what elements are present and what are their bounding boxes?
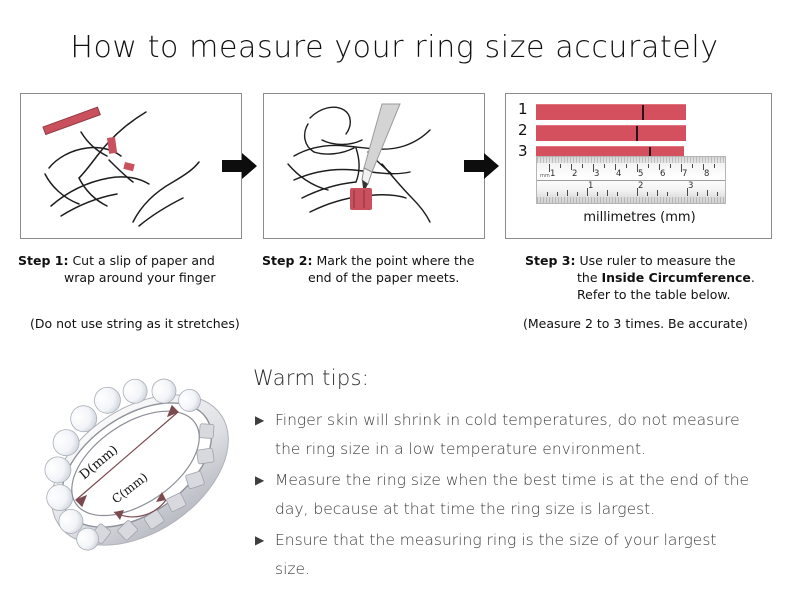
ruler-inch-tick-label: 2	[638, 182, 643, 191]
warm-tips-heading: Warm tips:	[253, 366, 753, 390]
step2-line2: end of the paper meets.	[262, 269, 494, 286]
step1-note: (Do not use string as it stretches)	[30, 316, 240, 331]
warm-tip-item: ▶ Finger skin will shrink in cold temper…	[253, 406, 753, 464]
ruler-inch-tick-label: 3	[688, 182, 693, 191]
ruler-cm-tick-label: 1	[550, 170, 555, 179]
step3-ruler-panel: 1 2 3 mm	[505, 93, 772, 239]
triangle-bullet-icon: ▶	[255, 526, 264, 555]
step1-caption: Step 1: Cut a slip of paper and wrap aro…	[18, 252, 248, 286]
steps-panel-row: 1 2 3 mm	[20, 93, 772, 243]
ruler-center-line	[537, 180, 725, 181]
step1-label: Step 1:	[18, 253, 68, 268]
paper-strip	[536, 125, 686, 141]
triangle-bullet-icon: ▶	[255, 466, 264, 495]
arrow-step1-to-step2-icon	[222, 151, 258, 181]
triangle-bullet-icon: ▶	[255, 406, 264, 435]
step3-line2-suffix: .	[751, 270, 755, 285]
step3-label: Step 3:	[525, 253, 575, 268]
step3-line2-prefix: the	[577, 270, 602, 285]
strip-number: 1	[518, 101, 528, 117]
ruler-cm-tick-label: 5	[638, 170, 643, 179]
ring-photo-illustration: D(mm) C(mm)	[28, 352, 253, 587]
ruler-unit-mark: mm	[540, 173, 550, 179]
strip-number: 2	[518, 122, 528, 138]
paper-strip	[536, 104, 686, 120]
step2-illustration-panel	[263, 93, 485, 239]
warm-tip-text: Measure the ring size when the best time…	[275, 471, 749, 518]
ruler-cm-tick-label: 3	[594, 170, 599, 179]
warm-tip-text: Finger skin will shrink in cold temperat…	[275, 411, 740, 458]
ruler-cm-tick-label: 8	[704, 170, 709, 179]
arrow-step2-to-step3-icon	[464, 151, 500, 181]
ruler-inch-tick-label: 1	[588, 182, 593, 191]
ruler-cm-tick-label: 7	[682, 170, 687, 179]
strip-mark	[636, 126, 638, 141]
warm-tip-item: ▶ Measure the ring size when the best ti…	[253, 466, 753, 524]
ruler-edge-band	[537, 157, 725, 163]
strip-mark	[642, 105, 644, 120]
ring-diagram: D(mm) C(mm)	[28, 352, 253, 587]
step3-note: (Measure 2 to 3 times. Be accurate)	[523, 316, 748, 331]
step3-line2-emphasis: Inside Circumference	[602, 270, 751, 285]
step1-illustration-panel	[20, 93, 242, 239]
step3-line1: Use ruler to measure the	[579, 253, 735, 268]
ruler-cm-tick-label: 4	[616, 170, 621, 179]
page-title: How to measure your ring size accurately	[0, 30, 789, 65]
step3-line2: the Inside Circumference.	[525, 269, 775, 286]
hand-with-paper-slip-illustration	[21, 94, 241, 238]
step2-caption: Step 2: Mark the point where the end of …	[262, 252, 494, 286]
strip-number: 3	[518, 143, 528, 159]
step2-label: Step 2:	[262, 253, 312, 268]
warm-tip-item: ▶ Ensure that the measuring ring is the …	[253, 526, 753, 584]
step3-caption: Step 3: Use ruler to measure the the Ins…	[525, 252, 775, 303]
ruler-edge-band	[537, 197, 725, 203]
warm-tips-section: Warm tips: ▶ Finger skin will shrink in …	[253, 366, 753, 586]
ruler-unit-caption: millimetres (mm)	[506, 210, 772, 225]
ruler-cm-tick-label: 6	[660, 170, 665, 179]
step1-line2: wrap around your finger	[18, 269, 248, 286]
step2-line1: Mark the point where the	[316, 253, 474, 268]
step1-line1: Cut a slip of paper and	[72, 253, 214, 268]
ruler-graphic: mm 1 2 3 4 5 6 7 8	[536, 156, 726, 204]
ruler-cm-tick-label: 2	[572, 170, 577, 179]
hand-marking-paper-illustration	[264, 94, 484, 238]
warm-tip-text: Ensure that the measuring ring is the si…	[275, 531, 716, 578]
step3-line3: Refer to the table below.	[525, 286, 775, 303]
